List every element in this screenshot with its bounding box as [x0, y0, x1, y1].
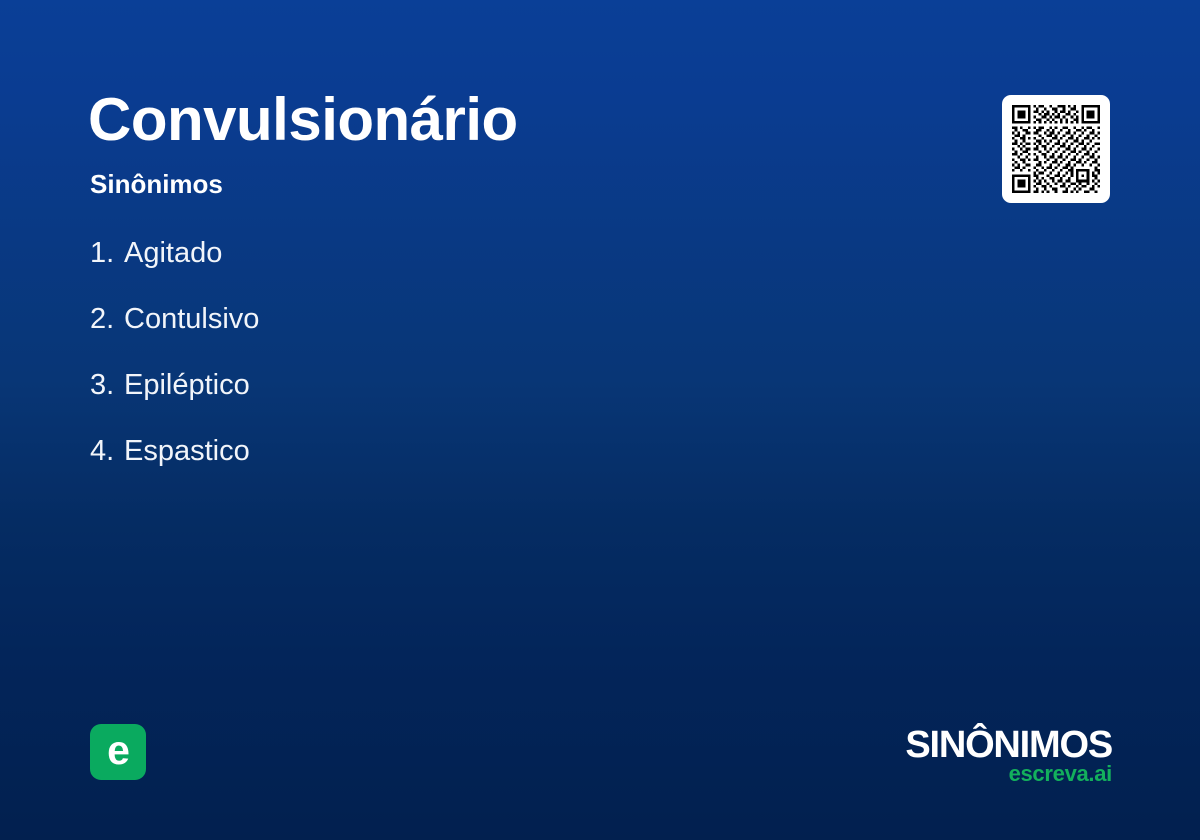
logotype-primary-text: SINÔNIMOS — [905, 726, 1112, 764]
brand-mark-letter: e — [107, 730, 129, 771]
list-item-label: Contulsivo — [124, 303, 259, 335]
list-item: 2.Contulsivo — [90, 302, 650, 336]
synonym-card: Convulsionário Sinônimos 1.Agitado 2.Con… — [0, 0, 1200, 840]
list-item: 1.Agitado — [90, 236, 650, 270]
synonym-list: 1.Agitado 2.Contulsivo 3.Epiléptico 4.Es… — [90, 236, 650, 500]
sinonimos-logotype[interactable]: SINÔNIMOS escreva.ai — [905, 726, 1112, 786]
escreva-logo-mark[interactable]: e — [90, 724, 146, 780]
list-item: 4.Espastico — [90, 434, 650, 468]
list-item-label: Epiléptico — [124, 369, 250, 401]
qr-code-icon — [1012, 105, 1100, 193]
qr-code-card[interactable] — [1002, 95, 1110, 203]
page-subtitle: Sinônimos — [90, 168, 223, 200]
list-item: 3.Epiléptico — [90, 368, 650, 402]
list-item-index: 3. — [90, 368, 124, 402]
list-item-index: 1. — [90, 236, 124, 270]
list-item-index: 4. — [90, 434, 124, 468]
list-item-label: Agitado — [124, 237, 222, 269]
page-title: Convulsionário — [88, 84, 518, 156]
list-item-index: 2. — [90, 302, 124, 336]
list-item-label: Espastico — [124, 435, 250, 467]
